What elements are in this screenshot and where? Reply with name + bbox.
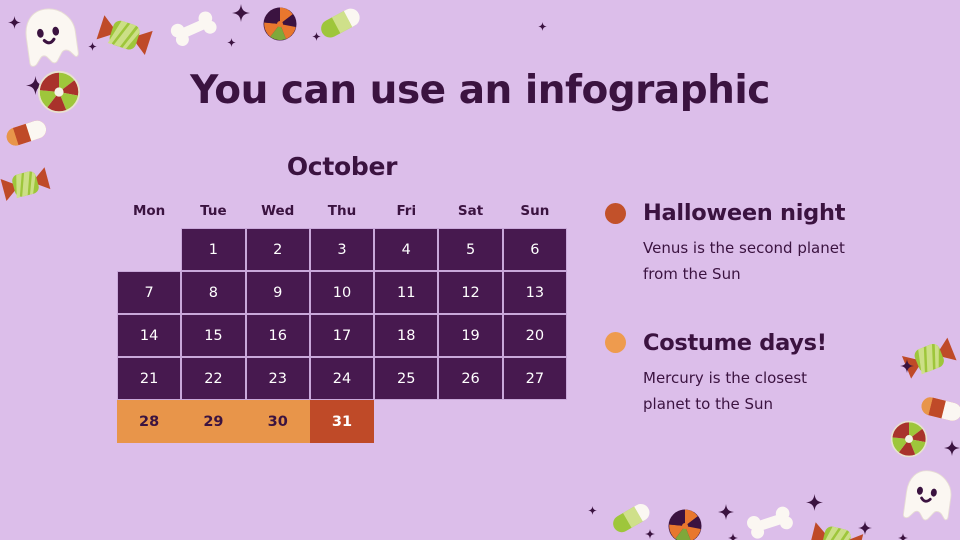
sparkle-icon	[728, 528, 738, 540]
calendar-day-28[interactable]: 28	[117, 400, 181, 443]
calendar-day-9[interactable]: 9	[246, 271, 310, 314]
legend-bullet-dot-icon	[605, 203, 626, 224]
weekday-label-tue: Tue	[181, 203, 245, 219]
calendar-day-21[interactable]: 21	[117, 357, 181, 400]
bone-icon	[740, 493, 801, 540]
calendar-grid: 1234567891011121314151617181920212223242…	[117, 228, 567, 443]
calendar-day-17[interactable]: 17	[310, 314, 374, 357]
legend-item-header: Halloween night	[605, 200, 905, 226]
sparkle-icon	[227, 32, 236, 51]
legend-item-header: Costume days!	[605, 330, 905, 356]
calendar-day-24[interactable]: 24	[310, 357, 374, 400]
calendar-day-30[interactable]: 30	[246, 400, 310, 443]
calendar-day-19[interactable]: 19	[438, 314, 502, 357]
capsule-candy-icon	[604, 491, 661, 540]
legend-title: Costume days!	[643, 330, 827, 356]
capsule-candy-icon	[312, 0, 371, 55]
legend-bullet-dot-icon	[605, 332, 626, 353]
wrapped-candy-icon	[0, 152, 58, 220]
legend: Halloween nightVenus is the second plane…	[605, 200, 905, 459]
legend-title: Halloween night	[643, 200, 845, 226]
calendar-day-14[interactable]: 14	[117, 314, 181, 357]
calendar-day-11[interactable]: 11	[374, 271, 438, 314]
sparkle-icon	[858, 520, 872, 539]
calendar-day-20[interactable]: 20	[503, 314, 567, 357]
calendar-day-29[interactable]: 29	[181, 400, 245, 443]
calendar-day-12[interactable]: 12	[438, 271, 502, 314]
calendar-cell-empty	[117, 228, 181, 271]
weekday-label-thu: Thu	[310, 203, 374, 219]
page-title: You can use an infographic	[0, 68, 960, 113]
sparkle-icon	[88, 36, 97, 55]
calendar-day-27[interactable]: 27	[503, 357, 567, 400]
sparkle-icon	[645, 524, 655, 540]
sparkle-icon	[806, 494, 823, 515]
calendar-day-26[interactable]: 26	[438, 357, 502, 400]
calendar-day-31[interactable]: 31	[310, 400, 374, 443]
sparkle-icon	[944, 440, 960, 460]
swirl-lollipop-icon	[262, 6, 298, 46]
calendar-day-22[interactable]: 22	[181, 357, 245, 400]
sparkle-icon	[588, 500, 597, 519]
wrapped-candy-icon	[87, 0, 161, 75]
calendar-day-23[interactable]: 23	[246, 357, 310, 400]
ghost-icon	[14, 2, 85, 76]
weekday-label-fri: Fri	[374, 203, 438, 219]
candy-corn-icon	[0, 107, 54, 164]
weekday-label-sun: Sun	[503, 203, 567, 219]
sparkle-icon	[538, 16, 547, 35]
legend-body-text: Venus is the second planet from the Sun	[643, 235, 858, 288]
calendar-month-label: October	[117, 152, 567, 181]
calendar-day-25[interactable]: 25	[374, 357, 438, 400]
calendar-day-18[interactable]: 18	[374, 314, 438, 357]
sparkle-icon	[718, 504, 734, 524]
calendar-day-16[interactable]: 16	[246, 314, 310, 357]
calendar-day-3[interactable]: 3	[310, 228, 374, 271]
wrapped-candy-icon	[802, 506, 871, 540]
calendar-day-7[interactable]: 7	[117, 271, 181, 314]
calendar-day-1[interactable]: 1	[181, 228, 245, 271]
legend-item-2: Costume days!Mercury is the closest plan…	[605, 330, 905, 418]
calendar-day-6[interactable]: 6	[503, 228, 567, 271]
sparkle-icon	[312, 26, 321, 45]
candy-corn-icon	[915, 384, 960, 439]
sparkle-icon	[8, 14, 21, 33]
sparkle-icon	[898, 528, 908, 540]
calendar-weekday-header: MonTueWedThuFriSatSun	[117, 203, 567, 219]
calendar-day-13[interactable]: 13	[503, 271, 567, 314]
calendar-day-15[interactable]: 15	[181, 314, 245, 357]
swirl-lollipop-icon	[667, 508, 703, 540]
calendar-day-2[interactable]: 2	[246, 228, 310, 271]
weekday-label-mon: Mon	[117, 203, 181, 219]
sparkle-icon	[232, 4, 250, 26]
calendar-day-10[interactable]: 10	[310, 271, 374, 314]
weekday-label-sat: Sat	[438, 203, 502, 219]
calendar-day-8[interactable]: 8	[181, 271, 245, 314]
weekday-label-wed: Wed	[246, 203, 310, 219]
calendar-day-4[interactable]: 4	[374, 228, 438, 271]
calendar-day-5[interactable]: 5	[438, 228, 502, 271]
legend-body-text: Mercury is the closest planet to the Sun	[643, 365, 858, 418]
bone-icon	[163, 0, 227, 64]
ghost-icon	[894, 464, 958, 531]
slide-root: You can use an infographic October MonTu…	[0, 0, 960, 540]
calendar: October MonTueWedThuFriSatSun 1234567891…	[117, 152, 567, 443]
legend-item-1: Halloween nightVenus is the second plane…	[605, 200, 905, 288]
